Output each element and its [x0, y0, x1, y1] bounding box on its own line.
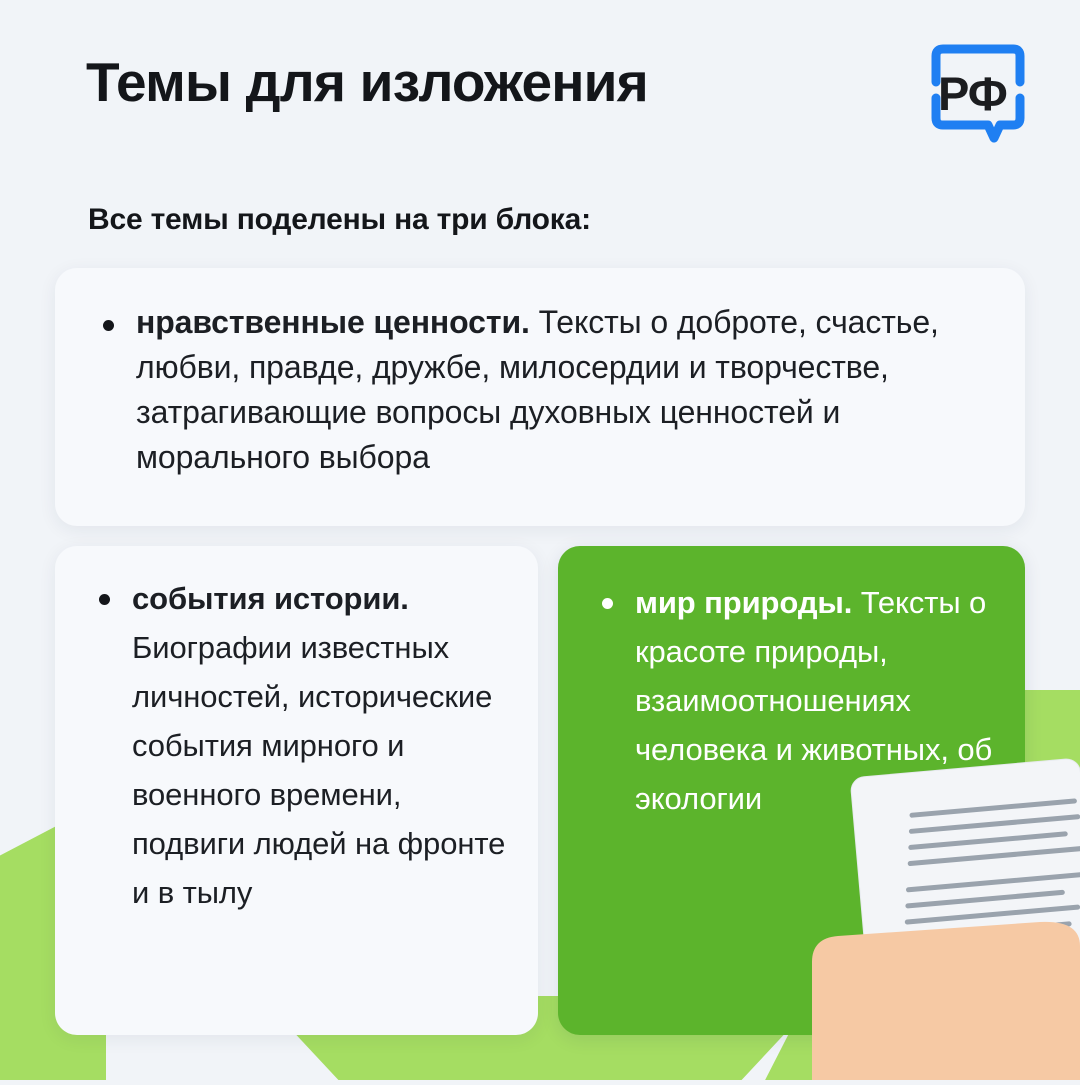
rf-logo: РФ [928, 36, 1028, 146]
page-title: Темы для изложения [86, 50, 648, 114]
bullet-dot-icon [103, 320, 114, 331]
hand-shape [812, 922, 1080, 1080]
bullet-lead: события истории. [132, 581, 409, 616]
bullet-lead: мир природы. [635, 585, 852, 620]
paper-in-hand-icon [790, 750, 1080, 1080]
rf-logo-text: РФ [938, 66, 1007, 121]
bullet-lead: нравственные ценности. [136, 304, 530, 340]
bullet-body: Биографии известных личностей, историчес… [132, 630, 505, 910]
bullet-dot-icon [99, 594, 110, 605]
paper-in-hand-illustration [790, 750, 1080, 1080]
bullet-text: нравственные ценности. Тексты о доброте,… [136, 300, 985, 480]
card-moral-values: нравственные ценности. Тексты о доброте,… [55, 268, 1025, 526]
bullet-text: события истории. Биографии известных лич… [132, 574, 518, 917]
subtitle: Все темы поделены на три блока: [88, 203, 591, 237]
header: Темы для изложения РФ [0, 0, 1080, 180]
card-history-events: события истории. Биографии известных лич… [55, 546, 538, 1035]
bullet-row: события истории. Биографии известных лич… [99, 574, 518, 917]
bullet-dot-icon [602, 598, 613, 609]
bullet-row: нравственные ценности. Тексты о доброте,… [103, 300, 985, 480]
